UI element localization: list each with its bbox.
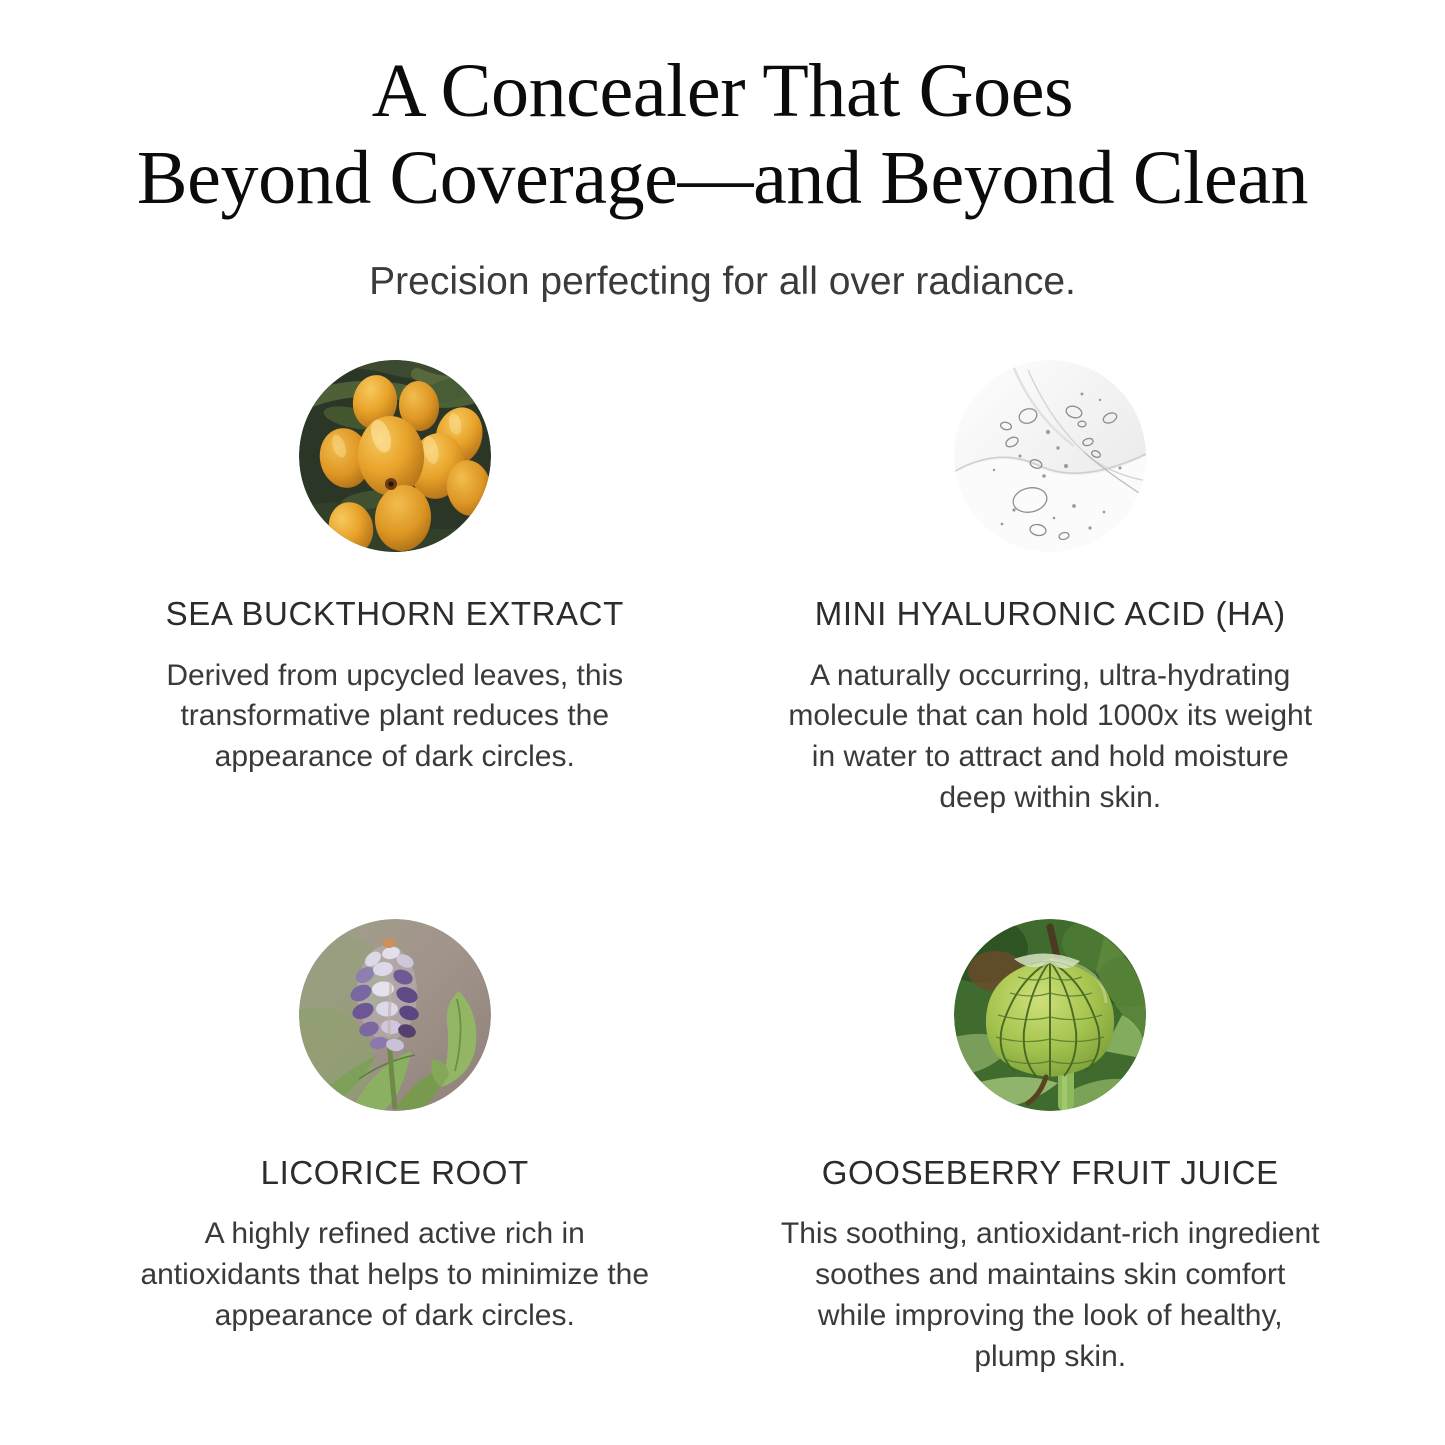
ingredient-card-hyaluronic-acid: MINI HYALURONIC ACID (HA) A naturally oc… — [728, 360, 1374, 819]
gooseberry-fruit-image — [954, 919, 1146, 1111]
ingredient-description: This soothing, antioxidant-rich ingredie… — [780, 1214, 1320, 1377]
sea-buckthorn-berries-image — [299, 360, 491, 552]
page-title: A Concealer That Goes Beyond Coverage—an… — [0, 48, 1445, 221]
ingredient-grid: SEA BUCKTHORN EXTRACT Derived from upcyc… — [72, 360, 1373, 1378]
ingredient-card-gooseberry: GOOSEBERRY FRUIT JUICE This soothing, an… — [728, 919, 1374, 1378]
ingredient-card-licorice-root: LICORICE ROOT A highly refined active ri… — [72, 919, 718, 1378]
header: A Concealer That Goes Beyond Coverage—an… — [0, 48, 1445, 306]
page-title-line-1: A Concealer That Goes — [60, 48, 1385, 135]
page-title-line-2: Beyond Coverage—and Beyond Clean — [60, 135, 1385, 222]
ingredient-card-sea-buckthorn: SEA BUCKTHORN EXTRACT Derived from upcyc… — [72, 360, 718, 819]
hyaluronic-acid-gel-image — [954, 360, 1146, 552]
ingredient-title: GOOSEBERRY FRUIT JUICE — [822, 1153, 1279, 1193]
licorice-root-flower-image — [299, 919, 491, 1111]
ingredient-description: A highly refined active rich in antioxid… — [135, 1214, 655, 1336]
ingredient-description: A naturally occurring, ultra-hydrating m… — [780, 656, 1320, 819]
ingredient-description: Derived from upcycled leaves, this trans… — [135, 656, 655, 778]
ingredient-title: MINI HYALURONIC ACID (HA) — [815, 594, 1286, 634]
ingredient-title: LICORICE ROOT — [261, 1153, 529, 1193]
ingredient-title: SEA BUCKTHORN EXTRACT — [166, 594, 624, 634]
ingredient-benefits-panel: A Concealer That Goes Beyond Coverage—an… — [0, 0, 1445, 1445]
page-subtitle: Precision perfecting for all over radian… — [0, 259, 1445, 306]
